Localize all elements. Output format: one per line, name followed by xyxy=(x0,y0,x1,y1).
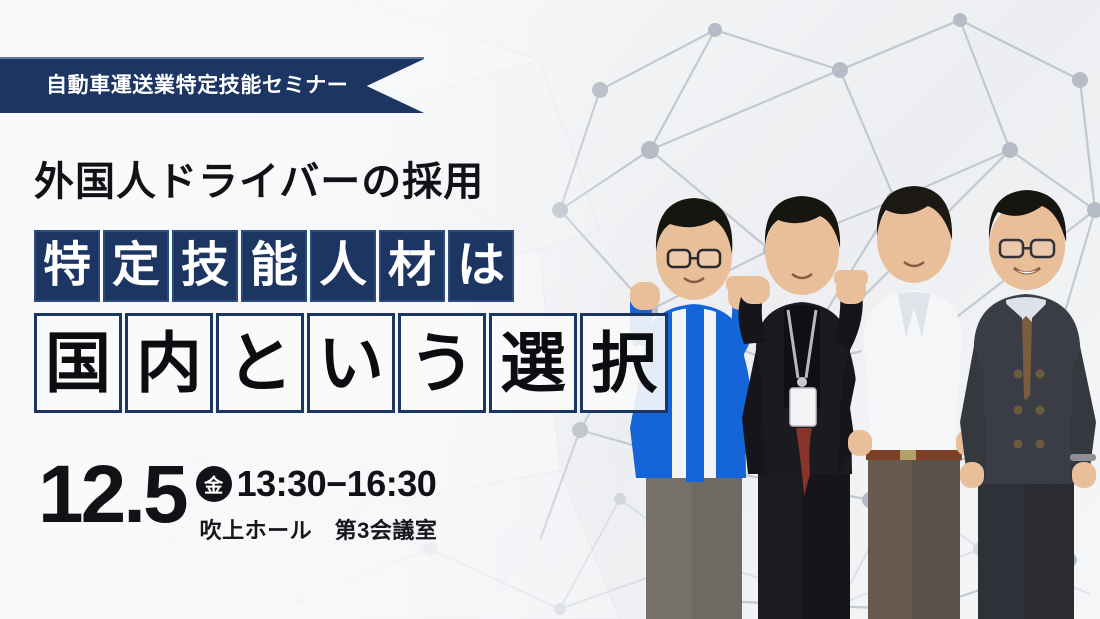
headline-cell: 内 xyxy=(125,313,213,413)
ribbon-banner: 自動車運送業特定技能セミナー xyxy=(0,59,424,113)
headline-line-1-highlight: 外国人ドライバーの採用 xyxy=(34,160,484,204)
headline-line-3: 国 内 と い う 選 択 xyxy=(34,313,668,413)
event-date: 12.5 xyxy=(38,455,186,535)
headline-line-1-text: 外国人ドライバーの採用 xyxy=(34,160,484,204)
seminar-banner: 自動車運送業特定技能セミナー 外国人ドライバーの採用 特 定 技 能 人 材 は… xyxy=(0,0,1100,619)
people-illustration xyxy=(630,178,1100,619)
headline-cell: い xyxy=(307,313,395,413)
headline-line-2: 特 定 技 能 人 材 は xyxy=(34,230,514,302)
headline-cell: う xyxy=(398,313,486,413)
headline-cell: 能 xyxy=(241,230,307,302)
people-photo xyxy=(630,178,1100,619)
headline-cell: 技 xyxy=(172,230,238,302)
person-4 xyxy=(960,190,1096,619)
headline-line-1: 外国人ドライバーの採用 xyxy=(34,160,484,204)
event-venue: 吹上ホール 第3会議室 xyxy=(200,513,438,545)
event-time: 13:30−16:30 xyxy=(237,463,437,505)
event-details: 12.5 金 13:30−16:30 吹上ホール 第3会議室 xyxy=(38,455,437,545)
headline-cell: と xyxy=(216,313,304,413)
headline-cell: 国 xyxy=(34,313,122,413)
headline-cell: 選 xyxy=(489,313,577,413)
person-3 xyxy=(848,186,980,619)
headline-cell: 定 xyxy=(103,230,169,302)
headline-cell: 材 xyxy=(379,230,445,302)
ribbon-label: 自動車運送業特定技能セミナー xyxy=(46,59,348,113)
event-time-row: 金 13:30−16:30 xyxy=(196,463,438,505)
person-2 xyxy=(738,196,868,619)
headline-cell: 特 xyxy=(34,230,100,302)
event-time-venue: 金 13:30−16:30 吹上ホール 第3会議室 xyxy=(196,455,438,545)
headline-cell: 人 xyxy=(310,230,376,302)
headline-cell: は xyxy=(448,230,514,302)
headline-cell: 択 xyxy=(580,313,668,413)
day-of-week-badge: 金 xyxy=(196,466,232,502)
